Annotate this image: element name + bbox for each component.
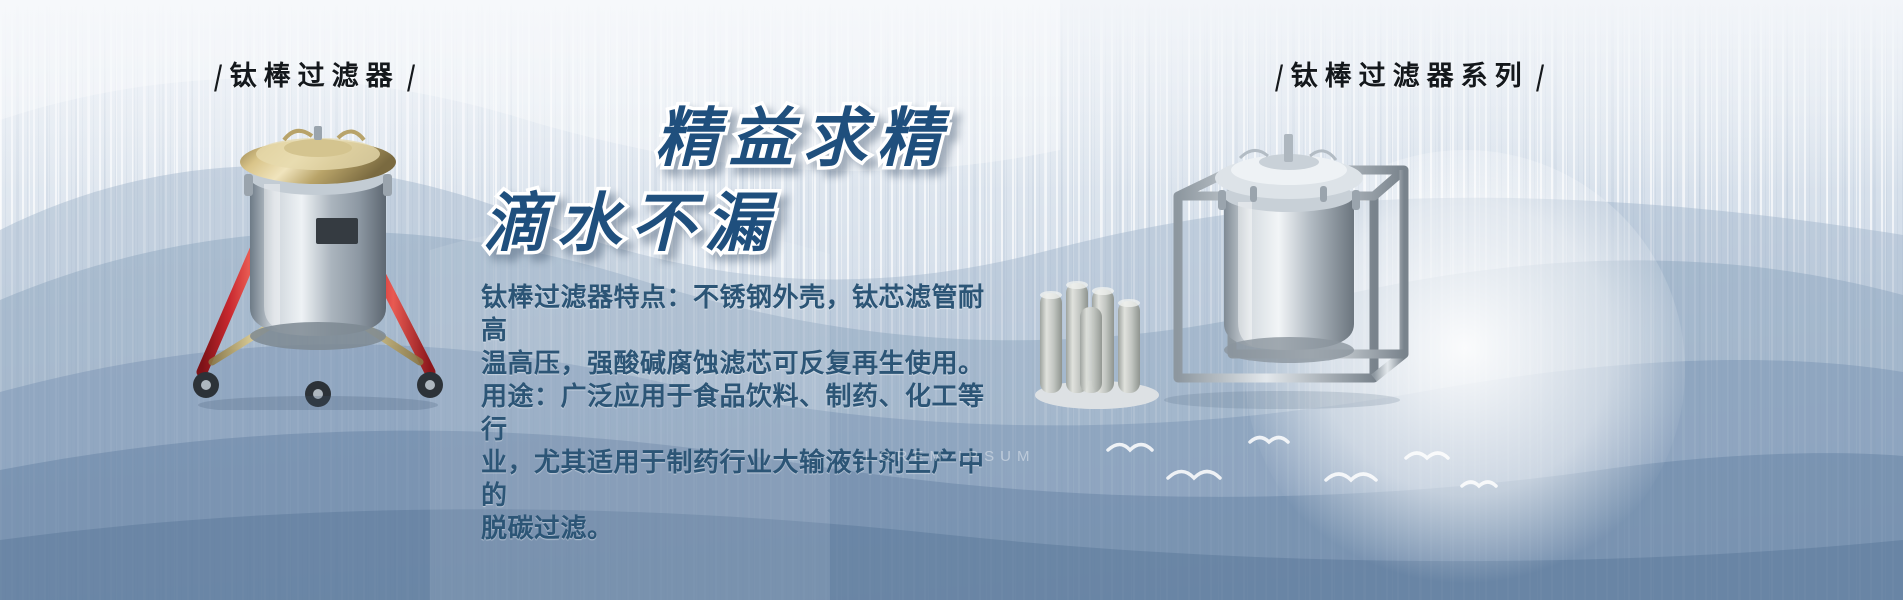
left-section-title-text: 钛棒过滤器 — [230, 61, 400, 92]
birds-silhouettes — [1090, 420, 1510, 510]
product-banner: ❘钛棒过滤器❘ ❘钛棒过滤器系列❘ 精益求精 滴水不漏 钛棒过滤器特点：不锈钢外… — [0, 0, 1903, 600]
description-line: 用途：广泛应用于食品饮料、制药、化工等行 — [481, 381, 1001, 447]
title-bar-left-icon: ❘ — [204, 61, 233, 92]
watermark-text: LOREM IPSUM — [800, 448, 1100, 465]
title-bar-left-icon: ❘ — [1265, 61, 1294, 92]
title-bar-right-icon: ❘ — [1525, 61, 1554, 92]
right-section-title: ❘钛棒过滤器系列❘ — [1268, 54, 1551, 93]
description-line: 钛棒过滤器特点：不锈钢外壳，钛芯滤管耐高 — [481, 282, 1001, 348]
filter-cartridges-image — [1022, 255, 1172, 415]
left-section-title: ❘钛棒过滤器❘ — [207, 54, 422, 93]
left-product-image — [168, 100, 468, 410]
right-section-title-text: 钛棒过滤器系列 — [1291, 61, 1529, 92]
title-bar-right-icon: ❘ — [396, 61, 425, 92]
description-line: 脱碳过滤。 — [481, 513, 1001, 546]
headline-line-2: 滴水不漏 — [483, 172, 779, 264]
headline-line-1: 精益求精 — [655, 87, 951, 179]
description-line: 温高压，强酸碱腐蚀滤芯可反复再生使用。 — [481, 348, 1001, 381]
product-description: 钛棒过滤器特点：不锈钢外壳，钛芯滤管耐高 温高压，强酸碱腐蚀滤芯可反复再生使用。… — [481, 282, 1001, 546]
right-product-image — [1152, 78, 1422, 418]
